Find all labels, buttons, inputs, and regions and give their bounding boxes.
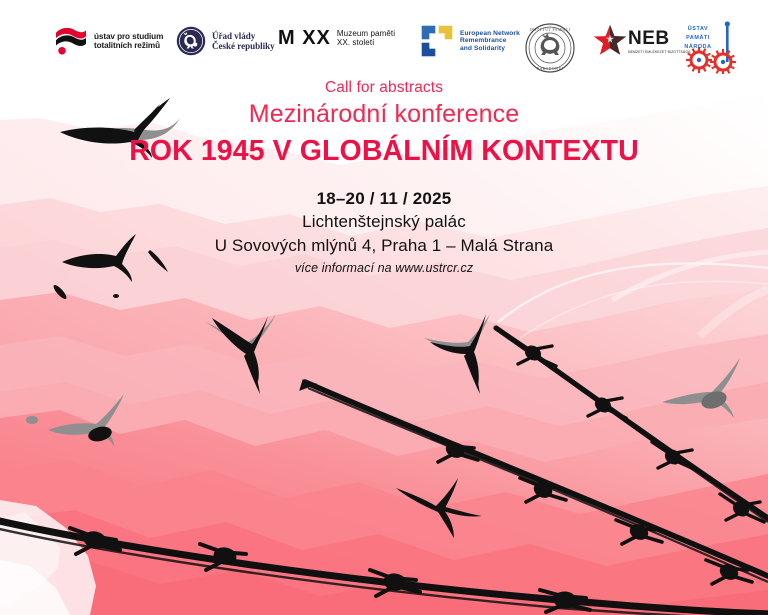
upn-label-line2: PAMÄTI (686, 34, 710, 41)
event-dates: 18–20 / 11 / 2025 (0, 188, 768, 210)
conference-poster: ústav pro studium totalitních režimů Úřa… (0, 0, 768, 615)
enrs-label-line3: and Solidarity (460, 45, 520, 52)
czech-lion-seal-icon (176, 26, 206, 56)
more-info-link[interactable]: více informací na www.ustrcr.cz (0, 259, 768, 278)
ipn-seal-top-text: INSTYTUT PAMIĘCI (530, 28, 571, 32)
european-network-remembrance-and-solidarity-logo[interactable]: European Network Remembrance and Solidar… (420, 24, 520, 58)
urad-label-line2: České republiky (212, 41, 275, 51)
nemzeti-emlekezet-bizottsaga-logo[interactable]: NEB NEMZETI EMLÉKEZET BIZOTTSÁGA (592, 24, 691, 58)
ustav-pamati-naroda-logo[interactable]: ÚSTAV PAMÄTI NÁRODA (679, 20, 745, 74)
enrs-label-line2: Remembrance (460, 37, 520, 44)
neb-star-icon (592, 24, 628, 58)
muzeum-label-line2: XX. století (337, 39, 395, 48)
enrs-square-icon (420, 24, 454, 58)
upn-sunburst-icon: ÚSTAV PAMÄTI NÁRODA (679, 20, 745, 74)
urad-vlady-ceske-republiky-logo[interactable]: Úřad vlády České republiky (176, 26, 275, 56)
urad-label-line1: Úřad vlády (212, 31, 275, 41)
venue-name: Lichtenštejnský palác (0, 210, 768, 233)
conference-subtitle: Mezinárodní konference (0, 98, 768, 131)
enrs-label-line1: European Network (460, 30, 520, 37)
call-for-abstracts-label: Call for abstracts (0, 78, 768, 97)
bird-silhouette (113, 294, 119, 298)
ustr-wave-icon (54, 26, 88, 56)
mxx-mark-icon: M XX (278, 27, 331, 50)
upn-label-line1: ÚSTAV (688, 25, 708, 32)
muzeum-pameti-xx-stoleti-logo[interactable]: M XX Muzeum paměti XX. století (278, 27, 395, 50)
page-title: ROK 1945 V GLOBÁLNÍM KONTEXTU (0, 133, 768, 170)
ustav-pro-studium-totalitnich-rezimu-logo[interactable]: ústav pro studium totalitních režimů (54, 26, 163, 56)
ipn-seal-icon: INSTYTUT PAMIĘCI NARODOWEJ (524, 22, 576, 74)
ipn-seal-bottom-text: NARODOWEJ (537, 67, 564, 71)
partner-logo-bar: ústav pro studium totalitních režimů Úřa… (0, 0, 768, 82)
upn-label-line3: NÁRODA (684, 43, 711, 50)
venue-address: U Sovových mlýnů 4, Praha 1 – Malá Stran… (0, 234, 768, 257)
headline-block: Call for abstracts Mezinárodní konferenc… (0, 78, 768, 170)
instytut-pamieci-narodowej-seal[interactable]: INSTYTUT PAMIĘCI NARODOWEJ (524, 22, 576, 74)
event-details-block: 18–20 / 11 / 2025 Lichtenštejnský palác … (0, 188, 768, 278)
ustr-label-line1: ústav pro studium (94, 32, 163, 41)
ustr-label-line2: totalitních režimů (94, 41, 163, 50)
